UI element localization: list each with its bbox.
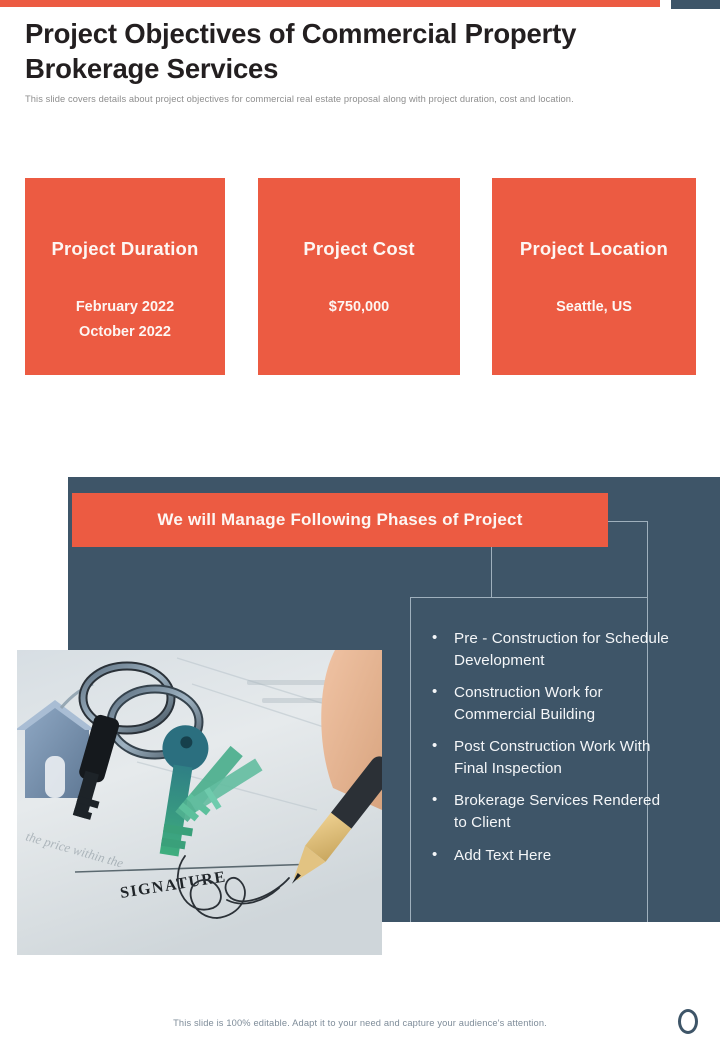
info-card-group: Project Duration February 2022 October 2… (0, 178, 720, 375)
list-item: Pre - Construction for Schedule Developm… (428, 628, 676, 671)
info-card-project-location[interactable]: Project Location Seattle, US (492, 178, 696, 375)
page-subtitle: This slide covers details about project … (25, 93, 661, 106)
top-accent-bar-orange (0, 0, 660, 7)
phases-banner-label: We will Manage Following Phases of Proje… (157, 510, 522, 530)
info-card-project-duration[interactable]: Project Duration February 2022 October 2… (25, 178, 225, 375)
list-item: Post Construction Work With Final Inspec… (428, 736, 676, 779)
list-item: Construction Work for Commercial Buildin… (428, 682, 676, 725)
info-card-value: $750,000 (258, 295, 460, 320)
info-card-value-line1: Seattle, US (492, 295, 696, 320)
contract-signing-photo: the price within the (17, 650, 382, 955)
list-item: Add Text Here (428, 845, 676, 867)
footer-note: This slide is 100% editable. Adapt it to… (0, 1018, 720, 1028)
ring-logo-icon (678, 1009, 700, 1035)
info-card-value-line1: $750,000 (258, 295, 460, 320)
list-item: Brokerage Services Rendered to Client (428, 790, 676, 833)
phases-banner: We will Manage Following Phases of Proje… (72, 493, 608, 547)
page-title: Project Objectives of Commercial Propert… (25, 17, 665, 87)
info-card-value-line1: February 2022 (25, 295, 225, 320)
info-card-title: Project Location (492, 238, 696, 260)
header: Project Objectives of Commercial Propert… (25, 17, 665, 106)
phases-list: Pre - Construction for Schedule Developm… (428, 628, 676, 877)
info-card-value: February 2022 October 2022 (25, 295, 225, 346)
info-card-title: Project Duration (25, 238, 225, 260)
info-card-value-line2: October 2022 (25, 320, 225, 345)
info-card-value: Seattle, US (492, 295, 696, 320)
photo-illustration: the price within the (17, 650, 382, 955)
top-accent-bar-dark (671, 0, 720, 9)
info-card-title: Project Cost (258, 238, 460, 260)
ring-logo-shape (678, 1009, 698, 1034)
info-card-project-cost[interactable]: Project Cost $750,000 (258, 178, 460, 375)
